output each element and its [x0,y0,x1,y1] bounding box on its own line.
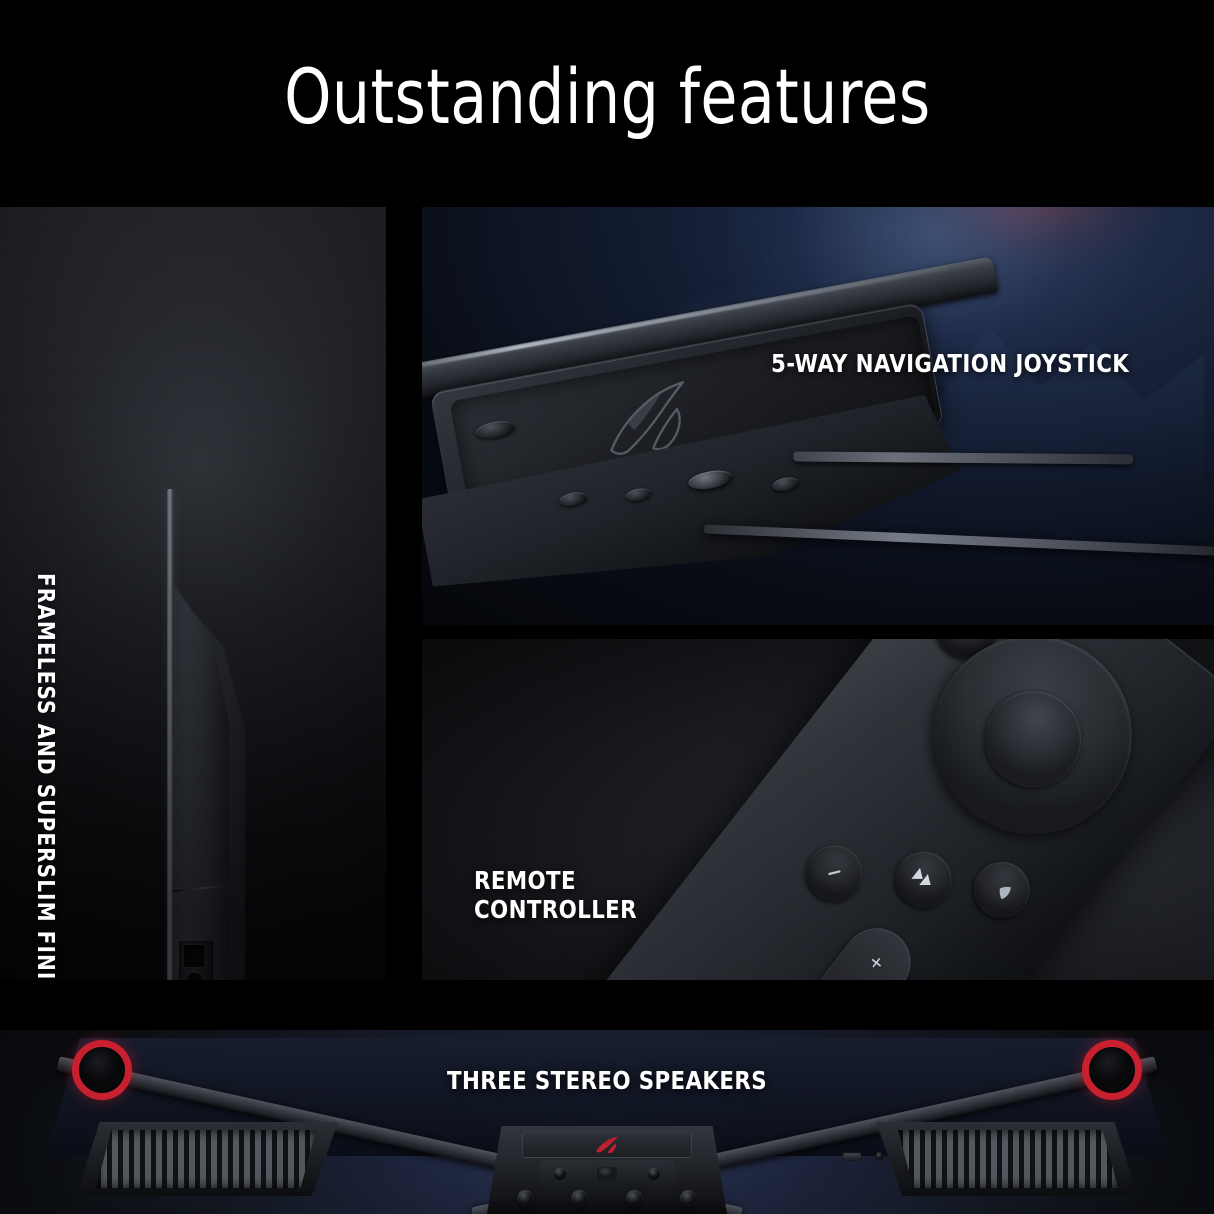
panel-frameless-superslim: FRAMELESS AND SUPERSLIM FINISH [0,207,386,980]
port-icon-hdmi [184,945,204,967]
port-icon-led-underside [875,1152,884,1161]
panel-remote-controller: + − [422,639,1214,980]
red-ring-accent-icon-left [72,1040,132,1100]
gutter-horizontal-right [422,625,1214,639]
port-icon-audio-jack [187,973,202,980]
screw-2 [571,1190,588,1207]
screw-4 [680,1190,697,1207]
io-port-cluster [179,941,213,980]
page-title: Outstanding features [284,59,931,149]
gutter-vertical [386,207,422,980]
navigation-joystick-underside[interactable] [597,1167,617,1181]
mute-glyph [819,858,850,889]
monitor-control-cluster[interactable] [539,1160,675,1188]
play-pause-glyph [906,862,942,897]
page-header: Outstanding features [0,0,1214,207]
panel-label-remote-line2: CONTROLLER [474,895,637,924]
port-icon-usb-underside [843,1152,861,1161]
remote-controller-image: + − [529,639,1214,980]
red-ring-accent-icon-right [1082,1040,1142,1100]
control-button-right[interactable] [648,1168,660,1180]
rog-eye-logo-icon [578,1135,636,1155]
panel-label-joystick: 5-WAY NAVIGATION JOYSTICK [771,349,1129,378]
monitor-side-profile-image [155,489,285,980]
speaker-grille-icon-left [96,1130,316,1188]
back-glyph [984,872,1020,908]
volume-up-icon[interactable]: + [841,932,911,980]
power-glyph [949,639,985,646]
speaker-grille-icon-right [898,1130,1118,1188]
panel-stereo-speakers [0,1030,1214,1214]
underside-port-row [843,1152,884,1161]
monitor-screen-edge [167,489,174,980]
panel-label-frameless: FRAMELESS AND SUPERSLIM FINISH [32,573,58,980]
panel-label-remote: REMOTE CONTROLLER [474,866,637,924]
control-button-left[interactable] [554,1168,566,1180]
vesa-screw-row [517,1190,697,1207]
screw-1 [517,1190,534,1207]
screw-3 [626,1190,643,1207]
panel-label-speakers: THREE STEREO SPEAKERS [447,1066,767,1095]
monitor-chassis [171,581,229,980]
panel-label-remote-line1: REMOTE [474,866,637,895]
panel-navigation-joystick [422,207,1214,625]
gutter-horizontal-bottom [0,980,1214,1030]
rog-logo-plate [522,1132,692,1158]
